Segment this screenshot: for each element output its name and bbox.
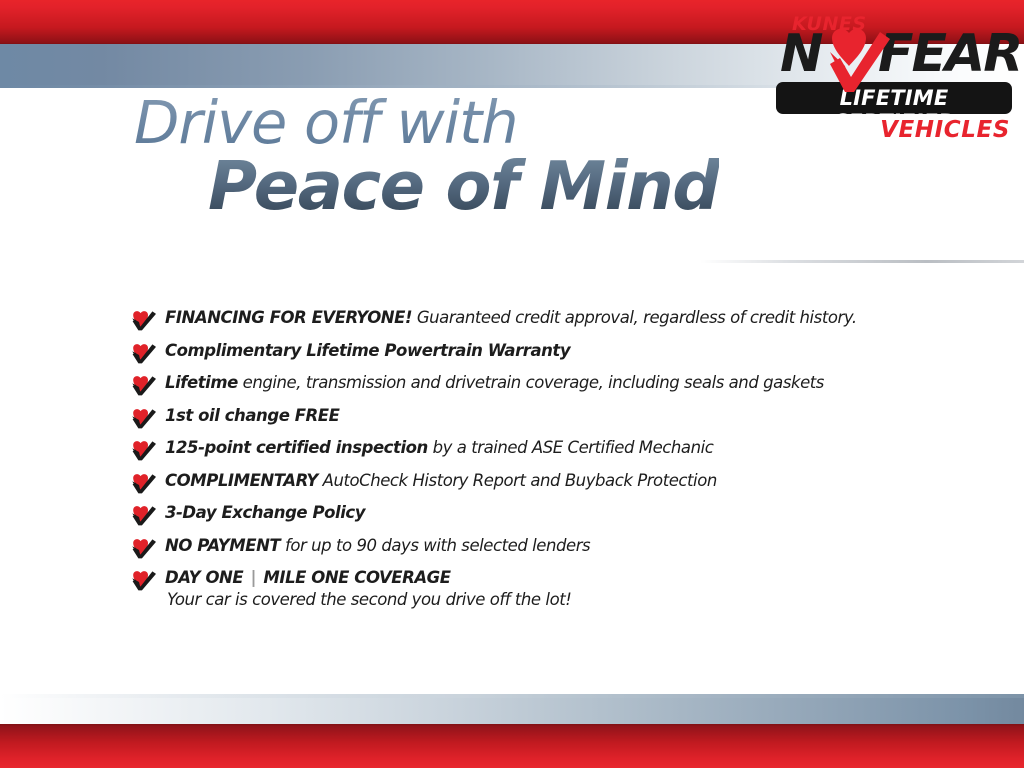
heart-check-icon: [131, 374, 157, 396]
headline-line-2: Peace of Mind: [208, 156, 719, 218]
logo-word-fear: FEAR: [878, 28, 1021, 80]
benefit-text: Lifetime engine, transmission and drivet…: [165, 373, 931, 392]
benefit-bold-text: Complimentary Lifetime Powertrain Warran…: [165, 341, 570, 360]
benefit-bold-text-2: MILE ONE COVERAGE: [263, 568, 450, 587]
benefit-item: 125-point certified inspection by a trai…: [131, 438, 931, 460]
logo-certified-text: LIFETIME CERTIFIED: [776, 86, 1012, 114]
promo-page: Drive off with Peace of Mind KUNES N FEA…: [0, 0, 1024, 768]
logo-letter-n: N: [780, 28, 822, 80]
benefit-item: Lifetime engine, transmission and drivet…: [131, 373, 931, 395]
benefit-bold-text: 1st oil change FREE: [165, 406, 339, 425]
benefit-text: 1st oil change FREE: [165, 406, 931, 425]
logo-certified-banner: LIFETIME CERTIFIED: [776, 82, 1012, 114]
benefit-subline: Your car is covered the second you drive…: [167, 590, 931, 609]
heart-check-icon: [131, 504, 157, 526]
benefit-item: 1st oil change FREE: [131, 406, 931, 428]
benefit-bold-text: FINANCING FOR EVERYONE!: [165, 308, 412, 327]
benefit-text: DAY ONE | MILE ONE COVERAGE: [165, 568, 931, 587]
benefit-separator: |: [243, 568, 263, 587]
benefit-text: 125-point certified inspection by a trai…: [165, 438, 931, 457]
benefit-normal-text: Guaranteed credit approval, regardless o…: [412, 308, 857, 327]
benefit-item: NO PAYMENT for up to 90 days with select…: [131, 536, 931, 558]
heart-check-icon: [131, 569, 157, 591]
benefits-list: FINANCING FOR EVERYONE! Guaranteed credi…: [131, 308, 931, 620]
heart-check-icon: [131, 472, 157, 494]
logo-vehicles-text: VEHICLES: [880, 117, 1010, 143]
benefit-bold-text: 3-Day Exchange Policy: [165, 503, 365, 522]
heart-check-icon: [131, 537, 157, 559]
benefit-normal-text: AutoCheck History Report and Buyback Pro…: [318, 471, 717, 490]
benefit-item: FINANCING FOR EVERYONE! Guaranteed credi…: [131, 308, 931, 330]
benefit-normal-text: engine, transmission and drivetrain cove…: [238, 373, 824, 392]
benefit-bold-text: NO PAYMENT: [165, 536, 280, 555]
heart-check-icon: [131, 342, 157, 364]
page-title: Drive off with Peace of Mind: [134, 96, 719, 218]
benefit-item: 3-Day Exchange Policy: [131, 503, 931, 525]
bottom-gray-gradient-band: [0, 694, 1024, 724]
benefit-text: NO PAYMENT for up to 90 days with select…: [165, 536, 931, 555]
header-divider: [700, 260, 1024, 263]
benefit-bold-text: 125-point certified inspection: [165, 438, 428, 457]
benefit-bold-text: Lifetime: [165, 373, 238, 392]
benefit-text: Complimentary Lifetime Powertrain Warran…: [165, 341, 931, 360]
benefit-text: COMPLIMENTARY AutoCheck History Report a…: [165, 471, 931, 490]
bottom-red-band: [0, 724, 1024, 768]
benefit-normal-text: for up to 90 days with selected lenders: [280, 536, 590, 555]
benefit-item: COMPLIMENTARY AutoCheck History Report a…: [131, 471, 931, 493]
headline-line-1: Drive off with: [134, 96, 719, 150]
heart-check-icon: [131, 407, 157, 429]
heart-check-icon: [131, 309, 157, 331]
kunes-no-fear-logo: KUNES N FEAR LIFETIME CERTIFIED VEHICLES: [772, 10, 1014, 150]
benefit-normal-text: by a trained ASE Certified Mechanic: [428, 438, 714, 457]
heart-check-icon: [131, 439, 157, 461]
benefit-text: 3-Day Exchange Policy: [165, 503, 931, 522]
benefit-text: FINANCING FOR EVERYONE! Guaranteed credi…: [165, 308, 931, 327]
benefit-bold-text: COMPLIMENTARY: [165, 471, 318, 490]
benefit-item: Complimentary Lifetime Powertrain Warran…: [131, 341, 931, 363]
heart-check-icon: [818, 22, 892, 94]
benefit-item: DAY ONE | MILE ONE COVERAGEYour car is c…: [131, 568, 931, 609]
benefit-bold-text: DAY ONE: [165, 568, 243, 587]
logo-wordmark: N FEAR: [780, 28, 1014, 84]
